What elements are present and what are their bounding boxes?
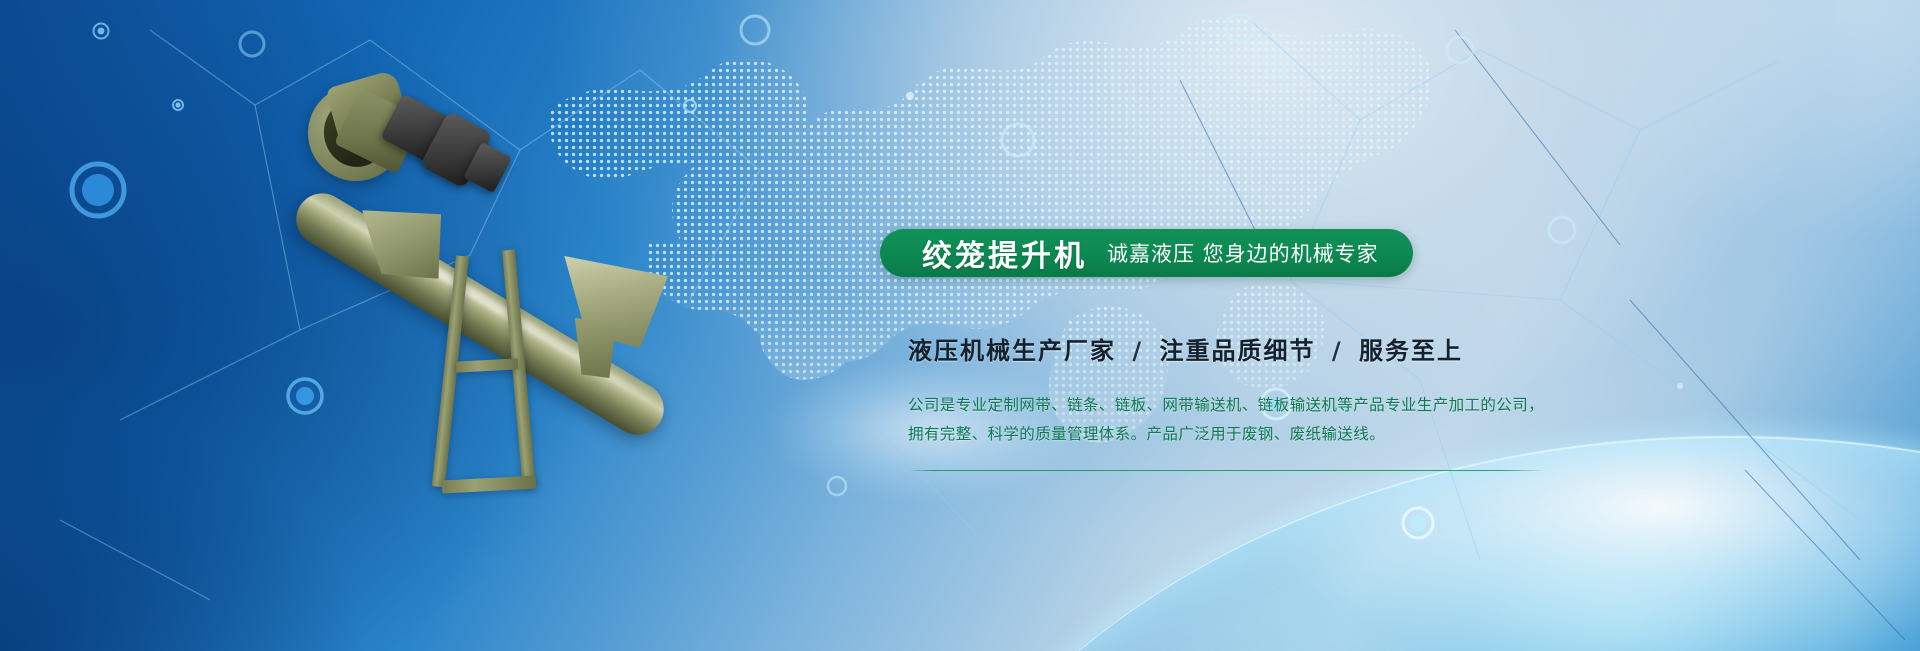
headline-part-3: 服务至上: [1359, 337, 1463, 365]
product-image-screw-conveyor: [270, 60, 740, 490]
description-line-1: 公司是专业定制网带、链条、链板、网带输送机、链板输送机等产品专业生产加工的公司，: [908, 391, 1528, 420]
headline-separator-2: /: [1326, 337, 1349, 365]
green-divider-line: [908, 470, 1545, 471]
promo-banner: 绞笼提升机 诚嘉液压 您身边的机械专家 液压机械生产厂家 / 注重品质细节 / …: [0, 0, 1920, 651]
description-paragraph: 公司是专业定制网带、链条、链板、网带输送机、链板输送机等产品专业生产加工的公司，…: [908, 391, 1528, 449]
headline-part-2: 注重品质细节: [1159, 337, 1315, 365]
headline-part-1: 液压机械生产厂家: [908, 337, 1116, 365]
headline-separator-1: /: [1126, 337, 1149, 365]
support-leg-crossbar: [456, 358, 518, 372]
headline: 液压机械生产厂家 / 注重品质细节 / 服务至上: [908, 331, 1463, 366]
description-line-2: 拥有完整、科学的质量管理体系。产品广泛用于废钢、废纸输送线。: [908, 420, 1528, 449]
product-title: 绞笼提升机: [922, 231, 1087, 275]
product-slogan: 诚嘉液压 您身边的机械专家: [1107, 238, 1379, 268]
drive-motor: [374, 88, 520, 210]
product-title-badge: 绞笼提升机 诚嘉液压 您身边的机械专家: [880, 229, 1413, 277]
